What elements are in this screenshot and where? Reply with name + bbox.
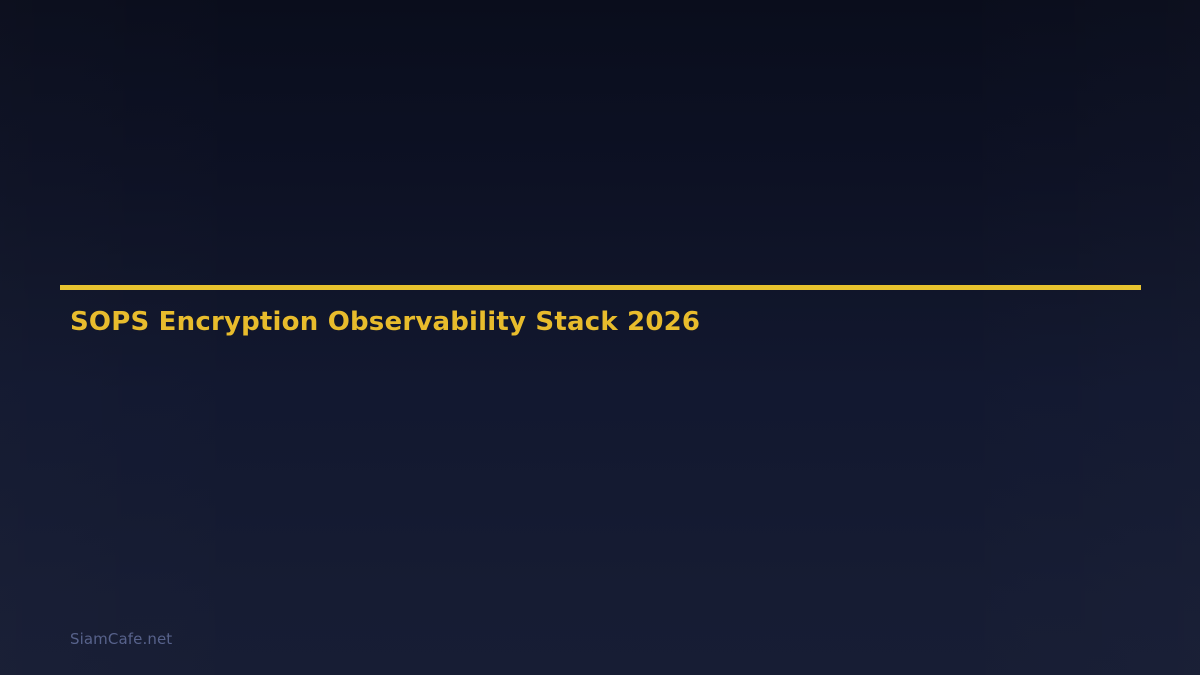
accent-bar	[60, 285, 1141, 290]
footer-brand-label: SiamCafe.net	[70, 630, 172, 648]
title-block: SOPS Encryption Observability Stack 2026	[60, 285, 1141, 290]
presentation-slide: SOPS Encryption Observability Stack 2026…	[0, 0, 1200, 675]
slide-content-area	[60, 350, 1141, 605]
page-title: SOPS Encryption Observability Stack 2026	[70, 308, 700, 337]
